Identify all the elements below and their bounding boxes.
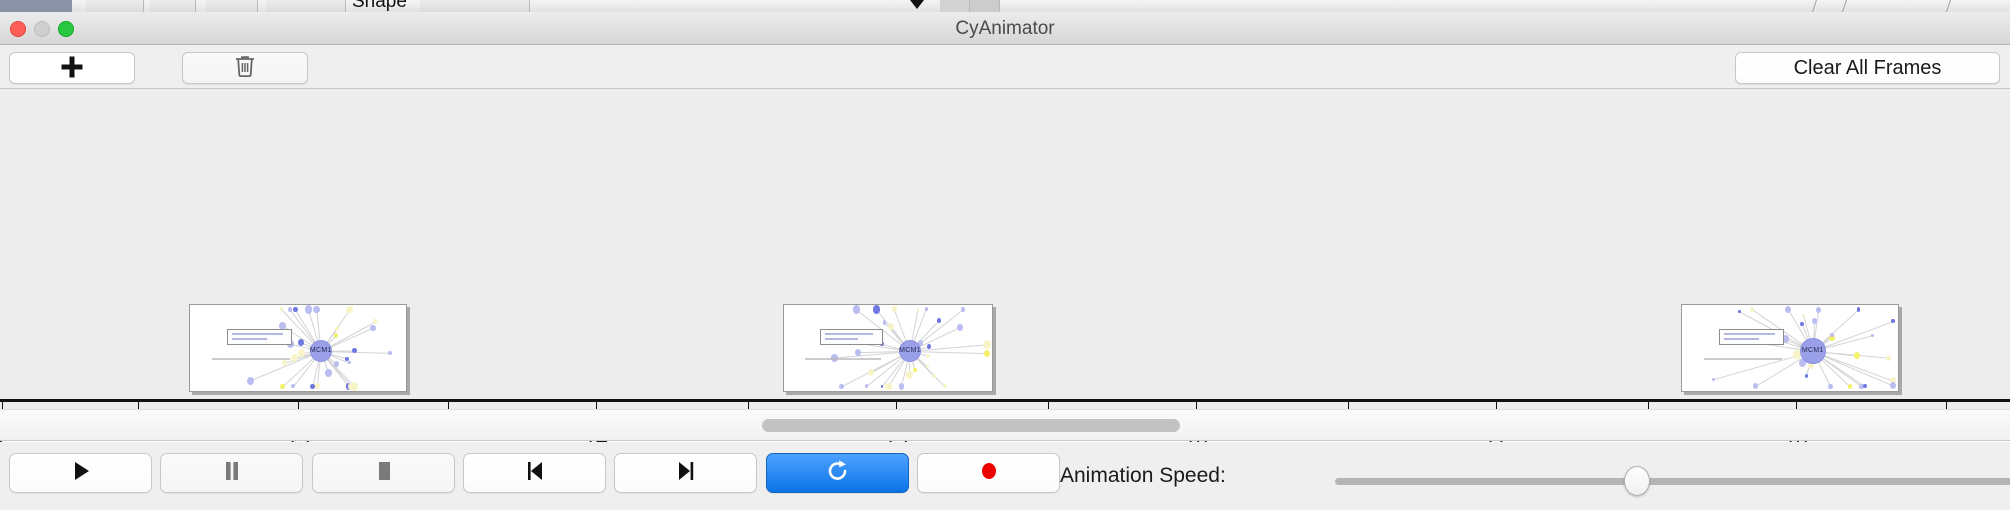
network-node bbox=[926, 365, 929, 368]
network-node bbox=[1848, 384, 1852, 389]
network-node bbox=[298, 349, 305, 357]
network-node bbox=[282, 360, 287, 366]
plus-icon bbox=[59, 54, 85, 80]
network-node bbox=[1738, 310, 1741, 313]
skip-to-end-button[interactable] bbox=[614, 453, 757, 493]
network-node bbox=[865, 384, 869, 388]
keyframe-thumbnail[interactable]: MCM1 bbox=[783, 304, 993, 392]
delete-frame-button[interactable] bbox=[182, 52, 308, 84]
network-node bbox=[325, 369, 332, 377]
network-node bbox=[1753, 383, 1758, 389]
animation-speed-label: Animation Speed: bbox=[1060, 464, 1226, 488]
network-node bbox=[937, 318, 941, 323]
timeline-panel[interactable]: MCM1MCM1MCM1 2131415161718 Seconds bbox=[0, 89, 2010, 409]
cyanimator-window: Shape CyAnimator bbox=[0, 0, 2010, 510]
network-node bbox=[280, 384, 285, 389]
network-node bbox=[917, 308, 920, 311]
record-button[interactable] bbox=[917, 453, 1060, 493]
background-window-toolbar bbox=[0, 0, 72, 12]
keyframe-network-render: MCM1 bbox=[190, 305, 406, 391]
network-node bbox=[1857, 307, 1861, 312]
animation-speed-slider[interactable] bbox=[1335, 478, 2010, 485]
skip-forward-icon bbox=[673, 458, 699, 489]
background-tab bbox=[970, 0, 1000, 12]
network-node bbox=[370, 325, 376, 332]
network-node bbox=[885, 383, 891, 390]
network-node bbox=[892, 306, 897, 312]
network-hub-node: MCM1 bbox=[310, 340, 332, 362]
network-node bbox=[873, 305, 880, 313]
stop-button[interactable] bbox=[312, 453, 455, 493]
network-node bbox=[868, 369, 874, 376]
network-node bbox=[1871, 334, 1874, 337]
timeline-axis-line bbox=[0, 399, 2010, 402]
network-node bbox=[1830, 333, 1834, 337]
playback-bar: Animation Speed: bbox=[0, 442, 2010, 510]
loop-icon bbox=[825, 458, 851, 489]
network-node bbox=[883, 320, 887, 324]
network-node bbox=[1712, 378, 1715, 381]
keyframe-network-render: MCM1 bbox=[1682, 305, 1898, 391]
pause-button[interactable] bbox=[160, 453, 303, 493]
network-node bbox=[943, 384, 947, 388]
network-node bbox=[925, 307, 928, 311]
network-node bbox=[1891, 319, 1894, 323]
network-node bbox=[1890, 382, 1896, 389]
network-node bbox=[291, 354, 298, 362]
network-caption bbox=[805, 358, 881, 360]
trash-icon bbox=[234, 54, 256, 83]
background-tab bbox=[266, 0, 346, 12]
network-node bbox=[348, 361, 351, 365]
frame-toolbar: Clear All Frames bbox=[0, 45, 2010, 89]
network-annotation-box bbox=[1719, 329, 1784, 345]
network-node bbox=[906, 371, 913, 379]
keyframe-thumbnail[interactable]: MCM1 bbox=[189, 304, 407, 392]
title-bar: CyAnimator bbox=[0, 12, 2010, 45]
network-node bbox=[1828, 384, 1832, 389]
network-node bbox=[983, 340, 990, 348]
network-node bbox=[1886, 355, 1891, 361]
animation-speed-slider-thumb[interactable] bbox=[1624, 466, 1650, 496]
background-window-strip: Shape bbox=[0, 0, 2010, 12]
network-node bbox=[932, 374, 935, 378]
play-icon bbox=[68, 458, 94, 489]
network-node bbox=[913, 368, 917, 372]
skip-to-start-button[interactable] bbox=[463, 453, 606, 493]
clear-all-frames-label: Clear All Frames bbox=[1794, 57, 1942, 80]
network-hub-node: MCM1 bbox=[899, 340, 921, 362]
network-annotation-box bbox=[227, 329, 292, 345]
network-caption bbox=[1704, 358, 1782, 360]
keyframe-thumbnail[interactable]: MCM1 bbox=[1681, 304, 1899, 392]
network-node bbox=[957, 324, 963, 331]
network-node bbox=[1854, 352, 1860, 359]
background-window-label: Shape bbox=[352, 0, 407, 12]
network-node bbox=[293, 307, 298, 313]
network-hub-node: MCM1 bbox=[1800, 338, 1826, 364]
background-tab bbox=[940, 0, 970, 12]
network-node bbox=[310, 384, 314, 389]
network-node bbox=[313, 306, 319, 313]
keyframe-network-render: MCM1 bbox=[784, 305, 992, 391]
network-node bbox=[1812, 318, 1817, 324]
background-tab bbox=[420, 0, 530, 12]
window-title: CyAnimator bbox=[0, 12, 2010, 45]
record-icon bbox=[976, 458, 1002, 489]
scrollbar-thumb[interactable] bbox=[762, 419, 1180, 432]
background-caret-icon bbox=[910, 0, 924, 9]
loop-button[interactable] bbox=[766, 453, 909, 493]
network-node bbox=[348, 383, 355, 391]
network-node bbox=[247, 377, 254, 385]
network-node bbox=[855, 349, 861, 356]
network-node bbox=[352, 348, 356, 353]
network-node bbox=[839, 384, 844, 390]
add-frame-button[interactable] bbox=[9, 52, 135, 84]
network-node bbox=[334, 361, 339, 367]
timeline-horizontal-scrollbar[interactable] bbox=[0, 409, 2010, 441]
network-node bbox=[853, 305, 860, 313]
network-node bbox=[291, 384, 295, 388]
network-node bbox=[984, 350, 991, 358]
network-node bbox=[1802, 314, 1805, 317]
network-node bbox=[926, 354, 930, 358]
network-node bbox=[373, 319, 377, 324]
network-node bbox=[899, 383, 905, 390]
skip-back-icon bbox=[522, 458, 548, 489]
background-tab bbox=[206, 0, 258, 12]
background-tab bbox=[150, 0, 196, 12]
network-node bbox=[298, 339, 305, 347]
network-node bbox=[961, 307, 965, 312]
network-node bbox=[305, 305, 312, 313]
network-node bbox=[335, 326, 339, 331]
background-tab bbox=[86, 0, 144, 12]
pause-icon bbox=[219, 458, 245, 489]
play-button[interactable] bbox=[9, 453, 152, 493]
network-node bbox=[346, 306, 353, 313]
network-node bbox=[334, 333, 338, 338]
stop-icon bbox=[371, 458, 397, 489]
network-node bbox=[388, 351, 392, 356]
network-node bbox=[345, 357, 348, 361]
network-node bbox=[1805, 374, 1808, 378]
network-annotation-box bbox=[820, 329, 883, 345]
network-node bbox=[881, 385, 884, 388]
network-node bbox=[314, 383, 319, 389]
network-node bbox=[1816, 307, 1821, 313]
clear-all-frames-button[interactable]: Clear All Frames bbox=[1735, 52, 2000, 84]
network-node bbox=[1863, 384, 1867, 388]
network-caption bbox=[212, 358, 290, 360]
